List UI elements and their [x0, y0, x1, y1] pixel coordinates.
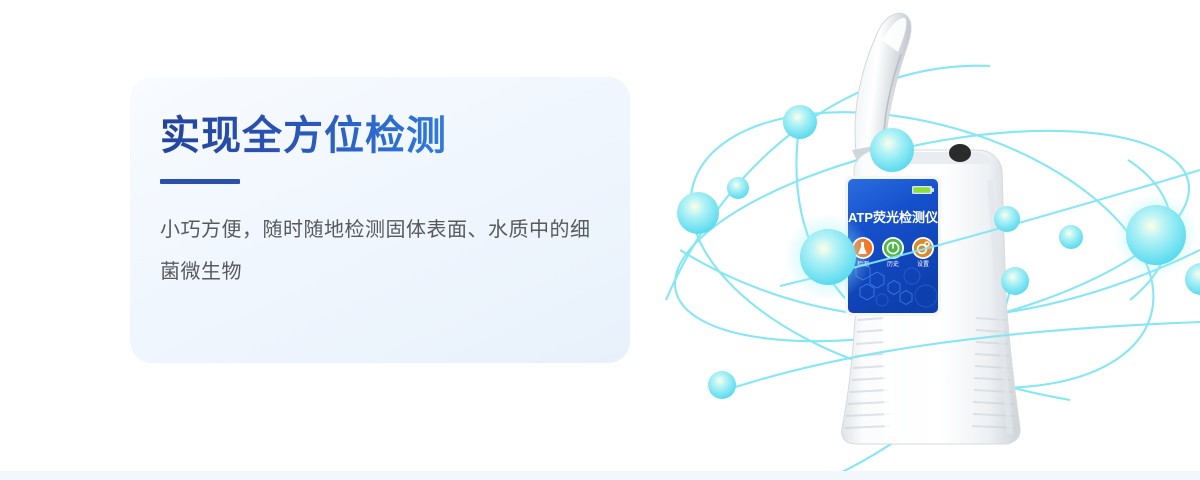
- menu-label-history: 历史: [887, 260, 899, 268]
- bottom-divider-band: [0, 471, 1200, 480]
- page-title: 实现全方位检测: [160, 103, 447, 161]
- feature-description: 小巧方便，随时随地检测固体表面、水质中的细菌微生物: [160, 209, 604, 293]
- screen-title: ATP荧光检测仪: [848, 210, 939, 225]
- title-accent-rule: [160, 179, 240, 184]
- feature-card-surface: 实现全方位检测 小巧方便，随时随地检测固体表面、水质中的细菌微生物: [130, 77, 630, 363]
- feature-card: 实现全方位检测 小巧方便，随时随地检测固体表面、水质中的细菌微生物: [128, 75, 632, 365]
- sensor-dot: [949, 144, 971, 162]
- menu-label-settings: 设置: [917, 260, 929, 268]
- atp-detector-device: ATP荧光检测仪 检测: [842, 13, 1020, 444]
- page-root: 实现全方位检测 小巧方便，随时随地检测固体表面、水质中的细菌微生物: [0, 0, 1200, 480]
- battery-icon: [912, 186, 934, 194]
- device-illustration: ATP荧光检测仪 检测: [660, 0, 1200, 480]
